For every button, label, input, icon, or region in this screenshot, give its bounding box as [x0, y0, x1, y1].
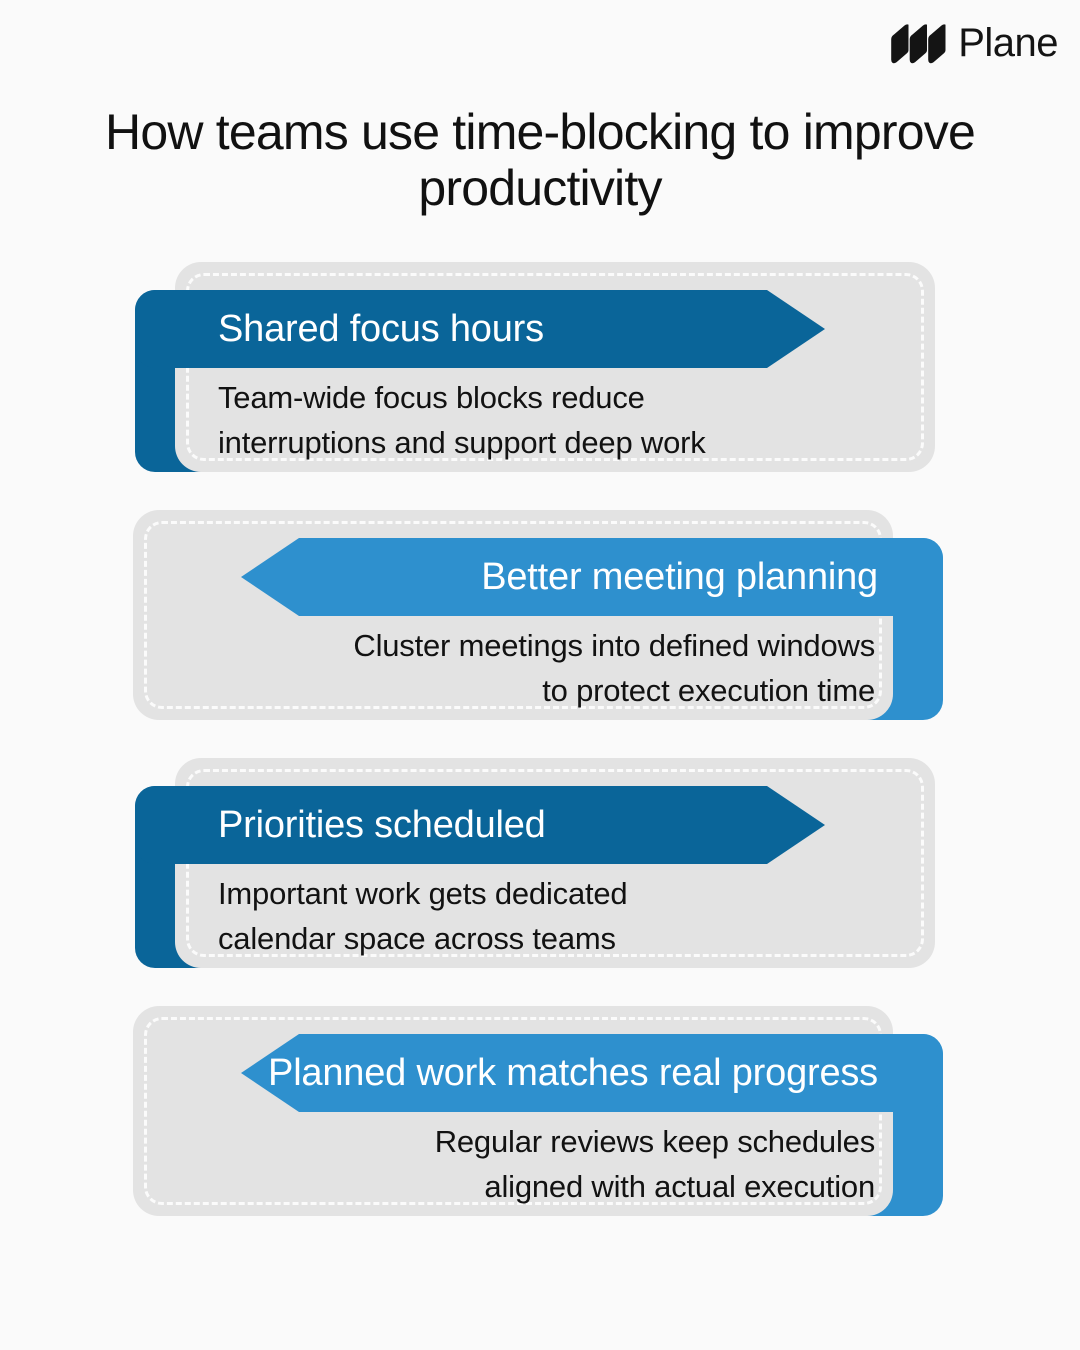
card-body: Important work gets dedicated calendar s…	[218, 872, 918, 962]
card-body-line: to protect execution time	[175, 669, 875, 714]
card-title: Shared focus hours	[218, 310, 544, 348]
card-body-line: interruptions and support deep work	[218, 421, 918, 466]
card-body-line: calendar space across teams	[218, 917, 918, 962]
card-item: Planned work matches real progress Regul…	[0, 1006, 1080, 1216]
card-body-line: Cluster meetings into defined windows	[175, 624, 875, 669]
card-title: Planned work matches real progress	[268, 1054, 878, 1092]
card-body: Regular reviews keep schedules aligned w…	[175, 1120, 875, 1210]
card-title: Priorities scheduled	[218, 806, 546, 844]
card-body-line: Team-wide focus blocks reduce	[218, 376, 918, 421]
card-item: Shared focus hours Team-wide focus block…	[0, 262, 1080, 472]
card-body-line: aligned with actual execution	[175, 1165, 875, 1210]
card-item: Better meeting planning Cluster meetings…	[0, 510, 1080, 720]
card-banner-arrow-right: Priorities scheduled	[135, 786, 825, 864]
card-list: Shared focus hours Team-wide focus block…	[0, 262, 1080, 1254]
card-banner-arrow-right: Shared focus hours	[135, 290, 825, 368]
card-body-line: Important work gets dedicated	[218, 872, 918, 917]
card-item: Priorities scheduled Important work gets…	[0, 758, 1080, 968]
brand-logo: Plane	[890, 22, 1058, 64]
plane-logo-icon	[890, 22, 946, 64]
page-title: How teams use time-blocking to improve p…	[90, 104, 990, 216]
card-body: Cluster meetings into defined windows to…	[175, 624, 875, 714]
card-body-line: Regular reviews keep schedules	[175, 1120, 875, 1165]
card-banner-arrow-left: Planned work matches real progress	[241, 1034, 943, 1112]
card-body: Team-wide focus blocks reduce interrupti…	[218, 376, 918, 466]
brand-name: Plane	[958, 23, 1058, 63]
card-title: Better meeting planning	[481, 558, 878, 596]
card-banner-arrow-left: Better meeting planning	[241, 538, 943, 616]
